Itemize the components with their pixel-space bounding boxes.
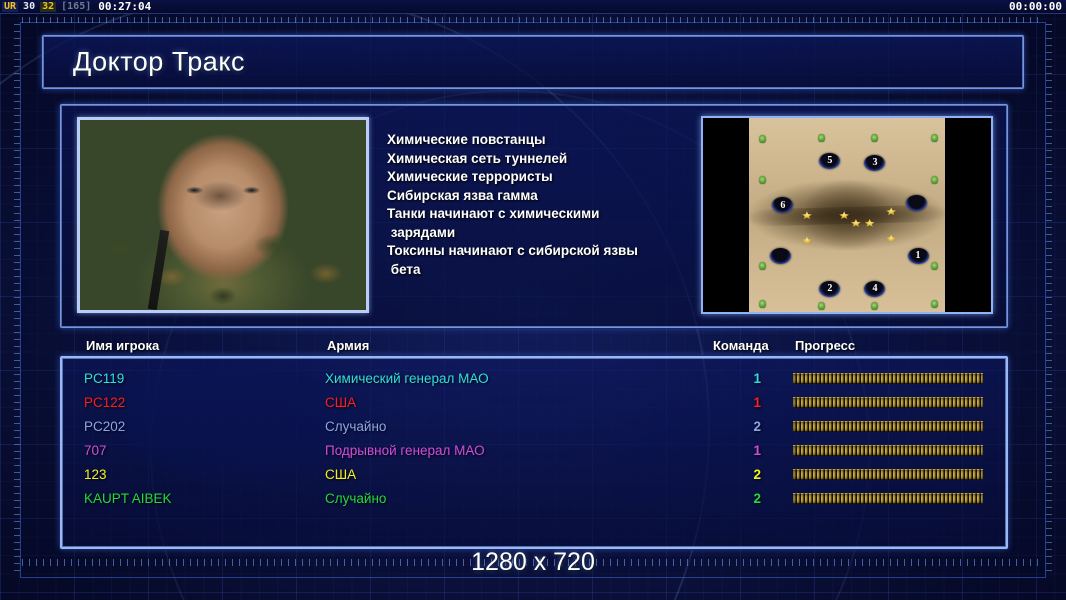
player-name: PC122 [84,395,125,410]
player-progress [793,469,983,480]
map-resource-icon [886,234,896,242]
player-army: Химический генерал МАО [325,371,489,386]
status-left-group: UR 30 32 [165] 00:27:04 [0,1,153,12]
rank-label: UR [2,2,18,12]
map-start-position[interactable]: 2 [819,281,840,297]
map-tree-icon [871,134,878,142]
map-tree-icon [818,134,825,142]
player-team: 2 [739,467,761,482]
resolution-label: 1280 x 720 [0,548,1066,577]
player-army: Подрывной генерал МАО [325,443,485,458]
map-resource-icon [886,207,896,215]
progress-bar-fill [793,469,983,480]
map-resource-icon [851,219,861,227]
map-tree-icon [759,262,766,270]
map-preview-frame[interactable]: 536124 [701,116,993,314]
value-secondary: 32 [40,2,56,12]
general-portrait [80,120,366,310]
column-header-army: Армия [327,338,369,353]
description-line: Сибирская язва гамма [387,187,687,206]
description-line: Химическая сеть туннелей [387,150,687,169]
title-panel: Доктор Тракс [42,35,1024,89]
map-terrain: 536124 [749,118,945,312]
player-progress [793,421,983,432]
map-tree-icon [759,135,766,143]
map-tree-icon [871,302,878,310]
player-progress [793,397,983,408]
map-tree-icon [818,302,825,310]
map-start-position[interactable]: 1 [908,248,929,264]
progress-bar-fill [793,445,983,456]
map-tree-icon [931,300,938,308]
player-team: 2 [739,419,761,434]
description-line: Танки начинают с химическими зарядами [387,205,687,242]
player-name: PC202 [84,419,125,434]
player-army: Случайно [325,419,386,434]
description-line: Токсины начинают с сибирской язвы бета [387,242,687,279]
player-team: 2 [739,491,761,506]
map-start-position[interactable] [906,195,927,211]
player-army: США [325,467,356,482]
player-list-panel: PC119Химический генерал МАО1PC122США1PC2… [60,356,1008,549]
page-title: Доктор Тракс [73,47,245,78]
table-row[interactable]: 707Подрывной генерал МАО1 [62,438,1006,462]
player-army: Случайно [325,491,386,506]
table-row[interactable]: 123США2 [62,462,1006,486]
player-team: 1 [739,443,761,458]
map-resource-icon [839,211,849,219]
table-row[interactable]: PC119Химический генерал МАО1 [62,366,1006,390]
table-row[interactable]: PC122США1 [62,390,1006,414]
player-progress [793,373,983,384]
faction-description: Химические повстанцыХимическая сеть тунн… [387,131,687,279]
map-start-position[interactable]: 4 [864,281,885,297]
top-status-bar: UR 30 32 [165] 00:27:04 00:00:00 [0,0,1066,14]
status-right-group: 00:00:00 [1009,1,1066,13]
player-team: 1 [739,395,761,410]
player-name: 123 [84,467,107,482]
description-line: Химические повстанцы [387,131,687,150]
progress-bar-fill [793,373,983,384]
progress-bar-fill [793,493,983,504]
column-header-team: Команда [713,338,769,353]
map-start-position[interactable]: 3 [864,155,885,171]
description-line: Химические террористы [387,168,687,187]
ruler-right [1046,24,1052,574]
ruler-top [22,17,1044,23]
player-name: KAUPT AIBEK [84,491,172,506]
map-start-position[interactable] [770,248,791,264]
map-resource-icon [802,211,812,219]
session-clock: 00:00:00 [1009,0,1062,13]
general-portrait-frame [77,117,369,313]
map-tree-icon [759,176,766,184]
player-progress [793,493,983,504]
value-primary: 30 [21,2,37,12]
player-name: PC119 [84,371,124,386]
progress-bar-fill [793,397,983,408]
player-team: 1 [739,371,761,386]
map-start-position[interactable]: 6 [772,197,793,213]
game-lobby-screen: UR 30 32 [165] 00:27:04 00:00:00 Доктор … [0,0,1066,600]
map-tree-icon [931,134,938,142]
briefing-panel: Химические повстанцыХимическая сеть тунн… [60,104,1008,328]
camo-uniform [80,223,366,310]
column-header-progress: Прогресс [795,338,855,353]
progress-bar-fill [793,421,983,432]
column-header-player-name: Имя игрока [86,338,159,353]
map-tree-icon [931,262,938,270]
player-progress [793,445,983,456]
elapsed-clock: 00:27:04 [96,1,153,12]
player-army: США [325,395,356,410]
map-tree-icon [759,300,766,308]
map-resource-icon [865,219,875,227]
bracket-value: [165] [59,2,93,12]
table-row[interactable]: KAUPT AIBEKСлучайно2 [62,486,1006,510]
ruler-left [14,24,20,574]
player-table-header: Имя игрока Армия Команда Прогресс [60,338,1008,356]
map-tree-icon [931,176,938,184]
map-start-position[interactable]: 5 [819,153,840,169]
player-name: 707 [84,443,107,458]
table-row[interactable]: PC202Случайно2 [62,414,1006,438]
map-resource-icon [802,236,812,244]
